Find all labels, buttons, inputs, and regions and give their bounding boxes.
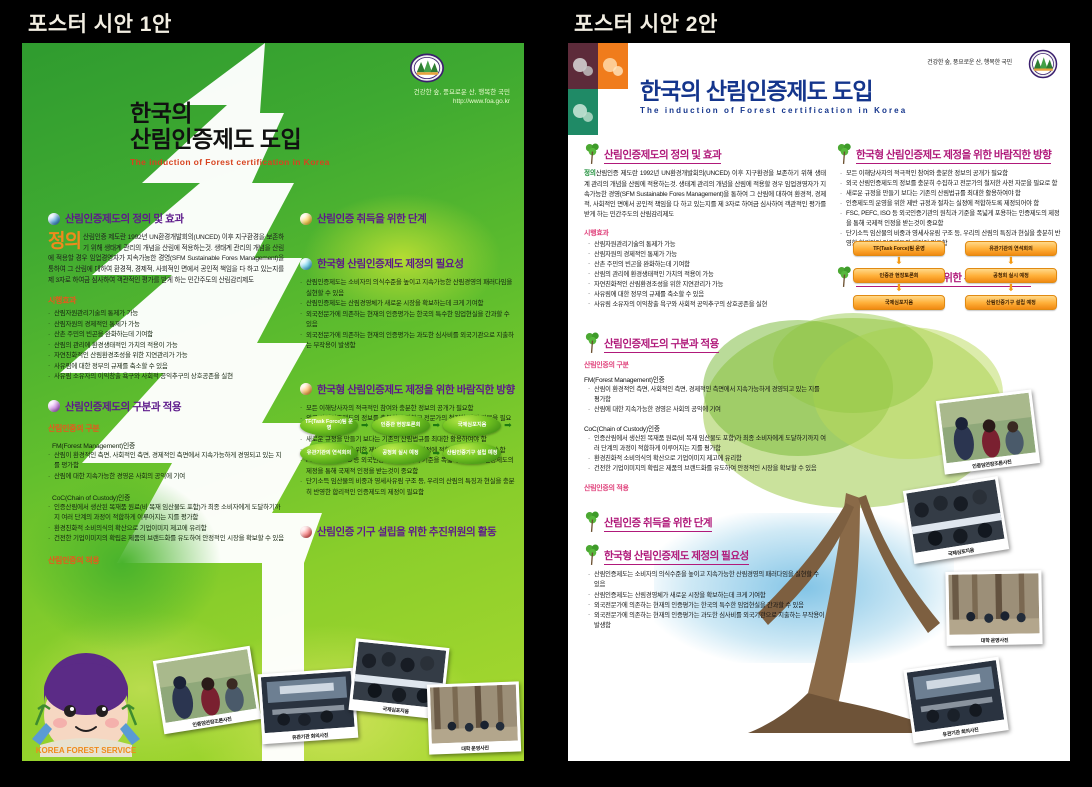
photo-symposium-audience — [906, 479, 1004, 552]
orange-bullet-icon — [300, 383, 312, 395]
section-header-steps: 산림인증 취득을 위한 단계 — [584, 511, 826, 532]
title-line-2: 산림인증제도 도입 — [130, 127, 330, 153]
list-item: 사유림 소유자의 이익창출 욕구와 사회적 공익추구의 상호공존을 실현 — [48, 372, 284, 383]
fm-list: 산림이 환경적인 측면, 사회적인 측면, 경제적인 측면에서 지속가능하게 경… — [48, 451, 284, 483]
section-title-classification: 산림인증제도의 구분과 적용 — [604, 336, 719, 353]
list-item: 산림자원관리기술의 통제가 가능 — [588, 240, 826, 250]
section-title-direction: 한국형 산림인증제도 제정을 위한 바람직한 방향 — [317, 382, 515, 397]
effects-list: 산림자원관리기술의 통제가 가능 산림자원의 경제적인 통제가 가능 산촌 주민… — [48, 309, 284, 383]
flow-node[interactable]: 공청회 실시 예정 — [965, 268, 1057, 283]
list-item: 외국전문가에 의존하는 현재의 인증평가는 한국의 특수한 임업현실을 간과할 … — [588, 601, 826, 611]
slogan-line-2: http://www.foa.go.kr — [414, 97, 510, 106]
definition-body-wrap: 정의 산림인증 제도란 1992년 UN환경개발회의(UNCED) 이후 지구환… — [48, 233, 284, 286]
tree-icon — [584, 143, 601, 164]
list-item: 산림이 환경적인 측면, 사회적인 측면, 경제적인 측면에서 지속가능하게 경… — [48, 451, 284, 472]
section-header-committee: 산림인증 기구 설립을 위한 추진위원의 활동 — [300, 524, 516, 539]
poster-draft-2: 건강한 숲, 풍요로운 산, 행복한 국민 한국의 산림인증제도 도입 The … — [568, 43, 1070, 761]
list-item: 새로운 규정을 만들기 보다는 기존의 산림법규를 최대한 활용하여야 함 — [840, 189, 1064, 199]
coc-title: CoC(Chain of Custody)인증 — [584, 423, 826, 433]
photo-card: 인증임연장조론사진 — [936, 389, 1040, 474]
definition-body-wrap: 정의산림인증 제도란 1992년 UN환경개발회의(UNCED) 이후 지구환경… — [584, 169, 826, 221]
section-title-steps: 산림인증 취득을 위한 단계 — [317, 211, 426, 226]
subheading-effects: 시행효과 — [584, 228, 826, 238]
cyan-bullet-icon — [300, 258, 312, 270]
photo-meeting-room — [907, 660, 1004, 732]
red-bullet-icon — [300, 526, 312, 538]
section-title-necessity: 한국형 산림인증제도 제정의 필요성 — [317, 256, 463, 271]
section-header-definition: 산림인증제도의 정의 및 효과 — [48, 211, 284, 226]
flow-node[interactable]: 국제심포지움 — [853, 295, 945, 310]
list-item: 산림인증제도는 소비자의 의식수준을 높이고 지속가능한 산림경영의 패러다임을… — [300, 278, 516, 299]
arrow-right-icon: ➡ — [504, 421, 512, 430]
photo-forest-walk — [430, 685, 518, 744]
poster-2-column-left: 산림인증제도의 정의 및 효과 정의산림인증 제도란 1992년 UN환경개발회… — [584, 143, 826, 631]
list-item: 외국전문가에 의존하는 현재의 인증평가는 과도한 심사비를 외국기관으로 지출… — [300, 331, 516, 352]
list-item: 인증제도의 운영을 위한 제반 규정과 절차는 실정에 적합하도록 제정되어야 … — [840, 199, 1064, 209]
definition-badge: 정의 — [48, 233, 81, 251]
subheading-apply: 산림인증의 적용 — [48, 555, 284, 566]
slogan-line-1: 건강한 숲, 풍요로운 산, 행복한 국민 — [414, 88, 510, 97]
section-header-definition: 산림인증제도의 정의 및 효과 — [584, 143, 826, 164]
list-item: 외국전문가에 의존하는 현재의 인증평가는 과도한 심사비를 외국기관으로 지출… — [588, 611, 826, 631]
flow-node[interactable]: 산림인증기구 설립 예정 — [965, 295, 1057, 310]
photo-card: 대학 운영사진 — [945, 570, 1042, 646]
flow-column-right: 유관기관의 연석회의 ⬇ 공청회 실시 예정 ⬇ 산림인증기구 설립 예정 — [962, 241, 1060, 310]
arrow-down-icon: ⬇ — [895, 257, 903, 267]
flow-node[interactable]: TF(Task Force)팀 운영 — [300, 415, 358, 436]
photo-caption: 대학 운영사진 — [947, 636, 1043, 645]
header-photo-strip — [568, 43, 628, 135]
list-item: 자연친화적인 산림환경조성을 위한 지연관리가 가능 — [48, 351, 284, 362]
section-header-necessity: 한국형 산림인증제도 제정의 필요성 — [300, 256, 516, 271]
list-item: 사유림에 대한 정부의 규제를 축소할 수 있음 — [48, 362, 284, 373]
list-item: 외국 산림인증제도의 정보를 충분히 수집하고 전문가의 철저한 사전 자문을 … — [840, 179, 1064, 189]
list-item: 산림인증제도는 산림경영체가 새로운 시장을 확보하는데 크게 기여함 — [300, 299, 516, 310]
right-slogan: 건강한 숲, 풍요로운 산, 행복한 국민 — [927, 57, 1012, 66]
panel-2-title: 포스터 시안 2안 — [574, 8, 718, 38]
left-slogan: 건강한 숲, 풍요로운 산, 행복한 국민 http://www.foa.go.… — [414, 88, 510, 107]
list-item: 산림인증제도는 소비자의 의식수준을 높이고 지속가능한 산림경영의 패러다임을… — [588, 570, 826, 590]
photo-forest-walk — [948, 573, 1039, 635]
flow-node[interactable]: 유관기관의 연석회의 — [965, 241, 1057, 256]
list-item: 산림에 대한 지속가능한 경영은 사회의 공익에 기여 — [588, 405, 826, 415]
list-item: 모든 이해당사자의 적극적인 참여와 충분한 정보의 공개가 필요함 — [300, 404, 516, 415]
list-item: 산림자원의 경제적인 통제가 가능 — [48, 320, 284, 331]
list-item: 건전한 기업이미지의 확립은 제품의 브랜드화를 유도하여 안정적인 시장을 확… — [588, 464, 826, 474]
necessity-list: 산림인증제도는 소비자의 의식수준을 높이고 지속가능한 산림경영의 패러다임을… — [584, 570, 826, 630]
photo-card: 인증임연장조론사진 — [153, 646, 261, 734]
section-title-direction: 한국형 산림인증제도 제정을 위한 바람직한 방향 — [856, 147, 1051, 164]
list-item: 산림인증제도는 산림경영체가 새로운 시장을 확보하는데 크게 기여함 — [588, 591, 826, 601]
flow-row-1: TF(Task Force)팀 운영 ➡ 인증관 현장토론회 ➡ 국제심포지움 … — [300, 415, 524, 436]
list-item: 산촌 주민의 빈곤을 완화하는데 기여함 — [588, 260, 826, 270]
subheading-classification: 산림인증의 구분 — [48, 423, 284, 434]
definition-body: 산림인증 제도란 1992년 UN환경개발회의(UNCED) 이후 지구환경을 … — [48, 233, 284, 286]
title-main: 한국의 산림인증제도 도입 — [640, 79, 907, 103]
committee-flowchart-right: TF(Task Force)팀 운영 ⬇ 인증관 현장토론회 ⬇ 국제심포지움 … — [850, 241, 1060, 310]
direction-list: 모든 이해당사자의 적극적인 참여와 충분한 정보의 공개가 필요함 외국 산림… — [836, 169, 1064, 250]
poster-1-column-left: 산림인증제도의 정의 및 효과 정의 산림인증 제도란 1992년 UN환경개발… — [48, 211, 284, 569]
flow-node[interactable]: 인증관 현장토론회 — [372, 415, 430, 436]
tree-icon — [584, 544, 601, 565]
poster-1-title-block: 한국의 산림인증제도 도입 The induction of Forest ce… — [130, 101, 330, 167]
list-item: 산림에 대한 지속가능한 경영은 사회의 공익에 기여 — [48, 472, 284, 483]
coc-list: 인증산림에서 생산된 목재품 원료(비 목재 임산물도 포함)가 최종 소비자에… — [48, 503, 284, 545]
panel-1-title: 포스터 시안 1안 — [28, 8, 172, 38]
purple-bullet-icon — [48, 400, 60, 412]
list-item: 사유림 소유자의 이익창출 욕구와 사회적 공익추구의 상호공존을 실현 — [588, 300, 826, 310]
list-item: 산림자원관리기술의 통제가 가능 — [48, 309, 284, 320]
list-item: 산림자원의 경제적인 통제가 가능 — [588, 250, 826, 260]
tree-icon — [584, 511, 601, 532]
tree-icon — [584, 332, 601, 353]
arrow-right-icon: ➡ — [361, 449, 369, 458]
list-item: 산림의 관리에 환경생태적인 가치의 적용이 가능 — [588, 270, 826, 280]
tree-icon — [836, 143, 853, 164]
blue-bullet-icon — [48, 213, 60, 225]
yellow-bullet-icon — [300, 213, 312, 225]
list-item: 인증산림에서 생산된 목재품 원료(비 목재 임산물도 포함)가 최종 소비자에… — [48, 503, 284, 524]
coc-list: 인증산림에서 생산된 목재품 원료(비 목재 임산물도 포함)가 최종 소비자에… — [584, 434, 826, 474]
poster-2-title-block: 한국의 산림인증제도 도입 The induction of Forest ce… — [640, 79, 907, 115]
flow-node[interactable]: TF(Task Force)팀 운영 — [853, 241, 945, 256]
list-item: 건전한 기업이미지의 확립은 제품의 브랜드화를 유도하여 안정적인 시장을 확… — [48, 534, 284, 545]
list-item: 환경친화적 소비의식의 확산으로 기업이미지 제고에 유리함 — [588, 454, 826, 464]
flow-row-2: 유관기관의 연석회의 ➡ 공청회 실시 예정 ➡ 산림인증기구 설립 예정 — [300, 443, 524, 464]
photo-meeting-room — [261, 671, 355, 733]
list-item: FSC, PEFC, ISO 등 외국인증기관의 원칙과 기준을 폭넓게 포용하… — [840, 209, 1064, 229]
poster-comparison-stage: 포스터 시안 1안 건강한 숲, 풍요로운 산, 행복한 국민 http://w… — [0, 0, 1092, 787]
panel-poster-draft-1: 포스터 시안 1안 건강한 숲, 풍요로운 산, 행복한 국민 http://w… — [0, 0, 546, 787]
fm-title: FM(Forest Management)인증 — [52, 440, 284, 450]
list-item: 산촌 주민의 빈곤을 완화하는데 기여함 — [48, 330, 284, 341]
list-item: 환경친화적 소비의식의 확산으로 기업이미지 제고에 유리함 — [48, 524, 284, 535]
poster-draft-1: 건강한 숲, 풍요로운 산, 행복한 국민 http://www.foa.go.… — [22, 43, 524, 761]
flow-node[interactable]: 공청회 실시 예정 — [372, 443, 430, 464]
fm-title: FM(Forest Management)인증 — [584, 374, 826, 384]
necessity-list: 산림인증제도는 소비자의 의식수준을 높이고 지속가능한 산림경영의 패러다임을… — [300, 278, 516, 352]
flow-node[interactable]: 국제심포지움 — [443, 415, 501, 436]
coc-title: CoC(Chain of Custody)인증 — [52, 492, 284, 502]
definition-badge: 정의 — [584, 170, 596, 177]
list-item: 자연친화적인 산림환경조성을 위한 지연관리가 가능 — [588, 280, 826, 290]
section-header-classification: 산림인증제도의 구분과 적용 — [584, 332, 826, 353]
section-header-steps: 산림인증 취득을 위한 단계 — [300, 211, 516, 226]
section-header-necessity: 한국형 산림인증제도 제정의 필요성 — [584, 544, 826, 565]
list-item: 사유림에 대한 정부의 규제를 축소할 수 있음 — [588, 290, 826, 300]
section-title-steps: 산림인증 취득을 위한 단계 — [604, 515, 712, 532]
list-item: 인증산림에서 생산된 목재품 원료(비 목재 임산물도 포함)가 최종 소비자에… — [588, 434, 826, 454]
list-item: 단기소득 임산물의 비중과 영세사유림 구조 등, 우리의 산림의 특징과 현실… — [300, 477, 516, 498]
section-title-definition: 산림인증제도의 정의 및 효과 — [65, 211, 184, 226]
mascot-korea-forest-service: KOREA FOREST SERVICE — [30, 653, 142, 757]
definition-body: 산림인증 제도란 1992년 UN환경개발회의(UNCED) 이후 지구환경을 … — [584, 170, 826, 218]
korea-forest-service-emblem — [410, 51, 444, 85]
panel-poster-draft-2: 포스터 시안 2안 건강한 숲, 풍요로운 산, 행복한 국민 — [546, 0, 1092, 787]
list-item: 산림의 관리에 환경생태적인 가치의 적용이 가능 — [48, 341, 284, 352]
fm-list: 산림이 환경적인 측면, 사회적인 측면, 경제적인 측면에서 지속가능하게 경… — [584, 385, 826, 415]
title-line-1: 한국의 — [130, 101, 330, 127]
section-title-committee: 산림인증 기구 설립을 위한 추진위원의 활동 — [317, 524, 496, 539]
arrow-right-icon: ➡ — [433, 449, 441, 458]
photo-card: 대학 운영사진 — [427, 681, 521, 754]
flow-node[interactable]: 유관기관의 연석회의 — [300, 443, 358, 464]
flow-node[interactable]: 산림인증기구 설립 예정 — [443, 443, 501, 464]
section-header-direction: 한국형 산림인증제도 제정을 위한 바람직한 방향 — [836, 143, 1064, 164]
title-subtitle-en: The induction of Forest certification in… — [640, 106, 907, 115]
arrow-down-icon: ⬇ — [895, 284, 903, 294]
flow-column-left: TF(Task Force)팀 운영 ⬇ 인증관 현장토론회 ⬇ 국제심포지움 — [850, 241, 948, 310]
arrow-down-icon: ⬇ — [1007, 257, 1015, 267]
section-header-classification: 산림인증제도의 구분과 적용 — [48, 399, 284, 414]
korea-forest-service-emblem — [1028, 49, 1058, 79]
mascot-label: KOREA FOREST SERVICE — [36, 746, 137, 755]
subheading-apply: 산림인증의 적용 — [584, 483, 826, 493]
section-title-necessity: 한국형 산림인증제도 제정의 필요성 — [604, 548, 749, 565]
list-item: 모든 이해당사자의 적극적인 참여와 충분한 정보의 공개가 필요함 — [840, 169, 1064, 179]
arrow-down-icon: ⬇ — [1007, 284, 1015, 294]
subheading-effects: 시행효과 — [48, 295, 284, 306]
arrow-right-icon: ➡ — [433, 421, 441, 430]
photo-forest-field-discussion — [939, 393, 1036, 464]
photo-forest-field-discussion — [156, 649, 256, 723]
section-title-definition: 산림인증제도의 정의 및 효과 — [604, 147, 721, 164]
subheading-classification: 산림인증의 구분 — [584, 360, 826, 370]
section-title-classification: 산림인증제도의 구분과 적용 — [65, 399, 181, 414]
photo-card: 국제심포지움 — [903, 476, 1009, 564]
section-header-direction: 한국형 산림인증제도 제정을 위한 바람직한 방향 — [300, 382, 516, 397]
list-item: 외국전문가에 의존하는 현재의 인증평가는 한국의 특수한 임업현실을 간과할 … — [300, 310, 516, 331]
arrow-right-icon: ➡ — [361, 421, 369, 430]
photo-card: 유관기관 회의사진 — [903, 657, 1008, 744]
photo-card: 유관기관 회의사진 — [258, 668, 359, 745]
flow-node[interactable]: 인증관 현장토론회 — [853, 268, 945, 283]
effects-list: 산림자원관리기술의 통제가 가능 산림자원의 경제적인 통제가 가능 산촌 주민… — [584, 240, 826, 310]
title-subtitle-en: The induction of Forest certification in… — [130, 157, 330, 167]
poster-1-column-right: 산림인증 취득을 위한 단계 한국형 산림인증제도 제정의 필요성 산림인증제도… — [300, 211, 516, 546]
list-item: 산림이 환경적인 측면, 사회적인 측면, 경제적인 측면에서 지속가능하게 경… — [588, 385, 826, 405]
committee-flowchart-left: TF(Task Force)팀 운영 ➡ 인증관 현장토론회 ➡ 국제심포지움 … — [300, 415, 524, 471]
